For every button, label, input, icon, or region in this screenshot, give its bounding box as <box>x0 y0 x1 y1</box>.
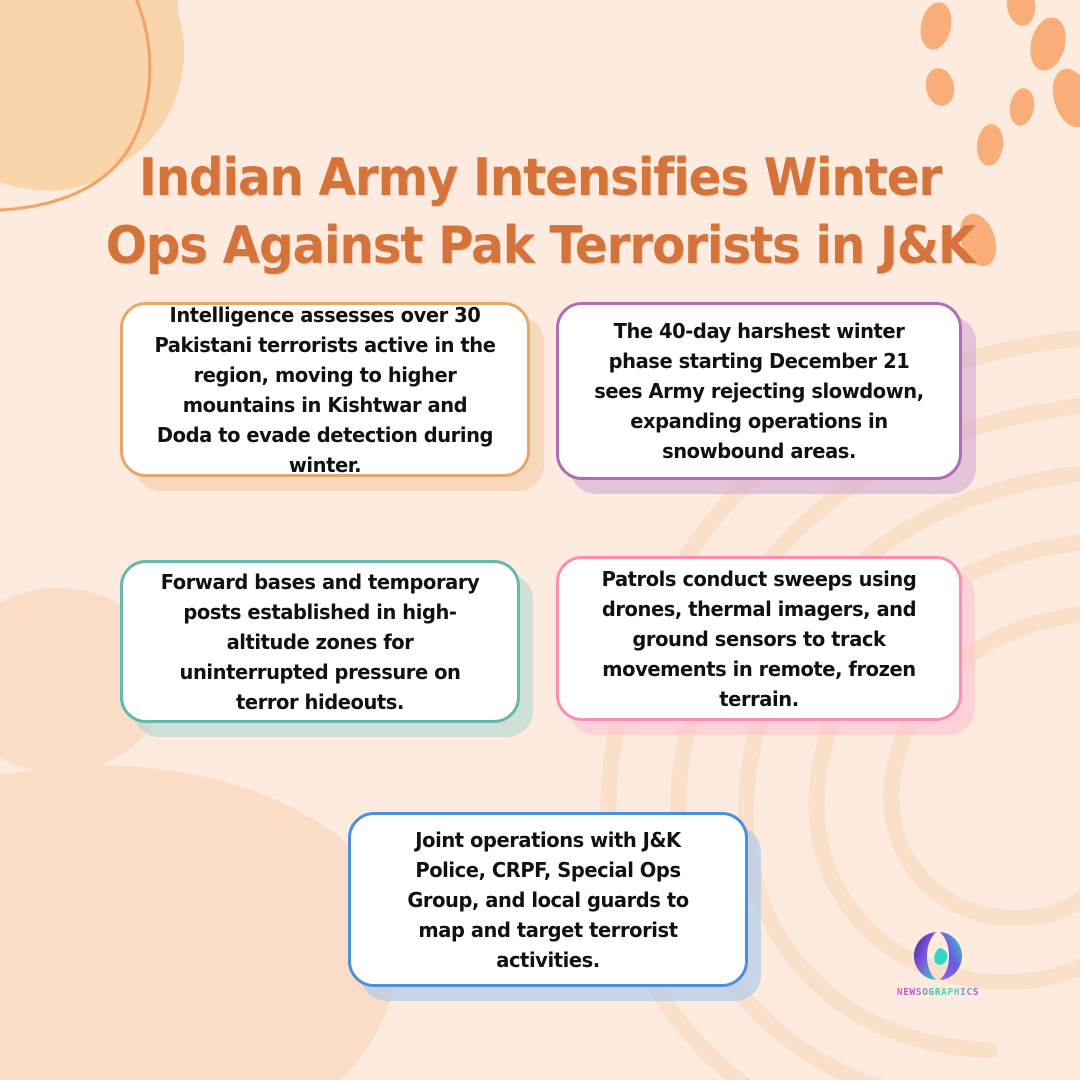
info-card-4: Patrols conduct sweeps using drones, the… <box>556 556 962 721</box>
title-line-1: Indian Army Intensifies Winter <box>38 144 1042 212</box>
brand-logo: NEWSOGRAPHICS <box>888 928 988 1010</box>
left-soft-blob-lower <box>0 765 398 1080</box>
info-card-5-text: Joint operations with J&K Police, CRPF, … <box>361 825 735 975</box>
info-card-2: The 40-day harshest winter phase startin… <box>556 302 962 480</box>
info-card-3: Forward bases and temporary posts establ… <box>120 560 520 723</box>
info-card-5: Joint operations with J&K Police, CRPF, … <box>348 812 748 987</box>
info-card-1-text: Intelligence assesses over 30 Pakistani … <box>133 300 517 480</box>
info-card-3-text: Forward bases and temporary posts establ… <box>133 567 507 717</box>
title-line-2: Ops Against Pak Terrorists in J&K <box>38 212 1042 280</box>
logo-wordmark: NEWSOGRAPHICS <box>888 987 988 998</box>
page-title: Indian Army Intensifies Winter Ops Again… <box>0 144 1080 280</box>
info-card-4-text: Patrols conduct sweeps using drones, the… <box>569 564 949 714</box>
info-card-2-text: The 40-day harshest winter phase startin… <box>569 316 949 466</box>
info-card-1: Intelligence assesses over 30 Pakistani … <box>120 302 530 477</box>
newsographics-globe-icon <box>910 928 966 984</box>
